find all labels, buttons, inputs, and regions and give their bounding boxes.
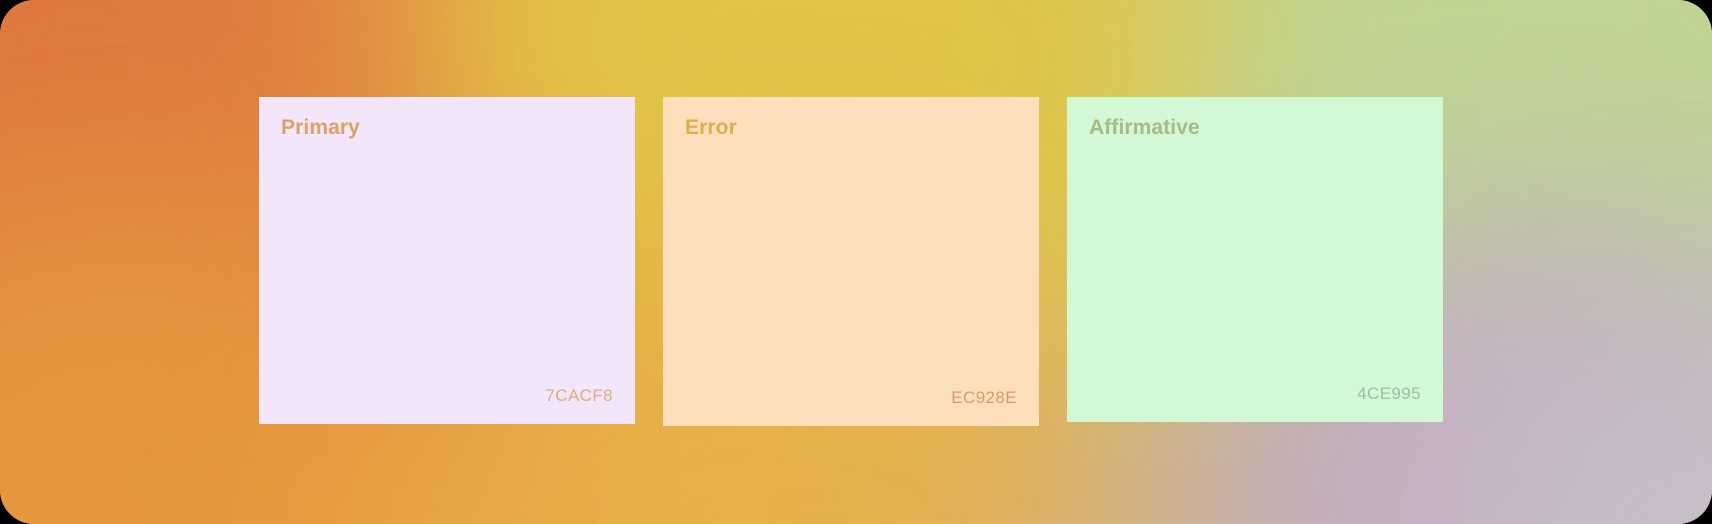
swatch-hex-affirmative: 4CE995 <box>1357 385 1421 402</box>
swatch-label-error: Error <box>685 117 1017 138</box>
swatch-row: Primary 7CACF8 Error EC928E Affirmative … <box>259 97 1445 427</box>
swatch-label-affirmative: Affirmative <box>1089 117 1421 138</box>
palette-canvas: Primary 7CACF8 Error EC928E Affirmative … <box>0 0 1712 524</box>
swatch-hex-error: EC928E <box>951 389 1017 406</box>
swatch-label-primary: Primary <box>281 117 613 138</box>
swatch-card-affirmative[interactable]: Affirmative 4CE995 <box>1067 97 1443 422</box>
swatch-card-primary[interactable]: Primary 7CACF8 <box>259 97 635 424</box>
swatch-hex-primary: 7CACF8 <box>545 387 613 404</box>
swatch-card-error[interactable]: Error EC928E <box>663 97 1039 426</box>
